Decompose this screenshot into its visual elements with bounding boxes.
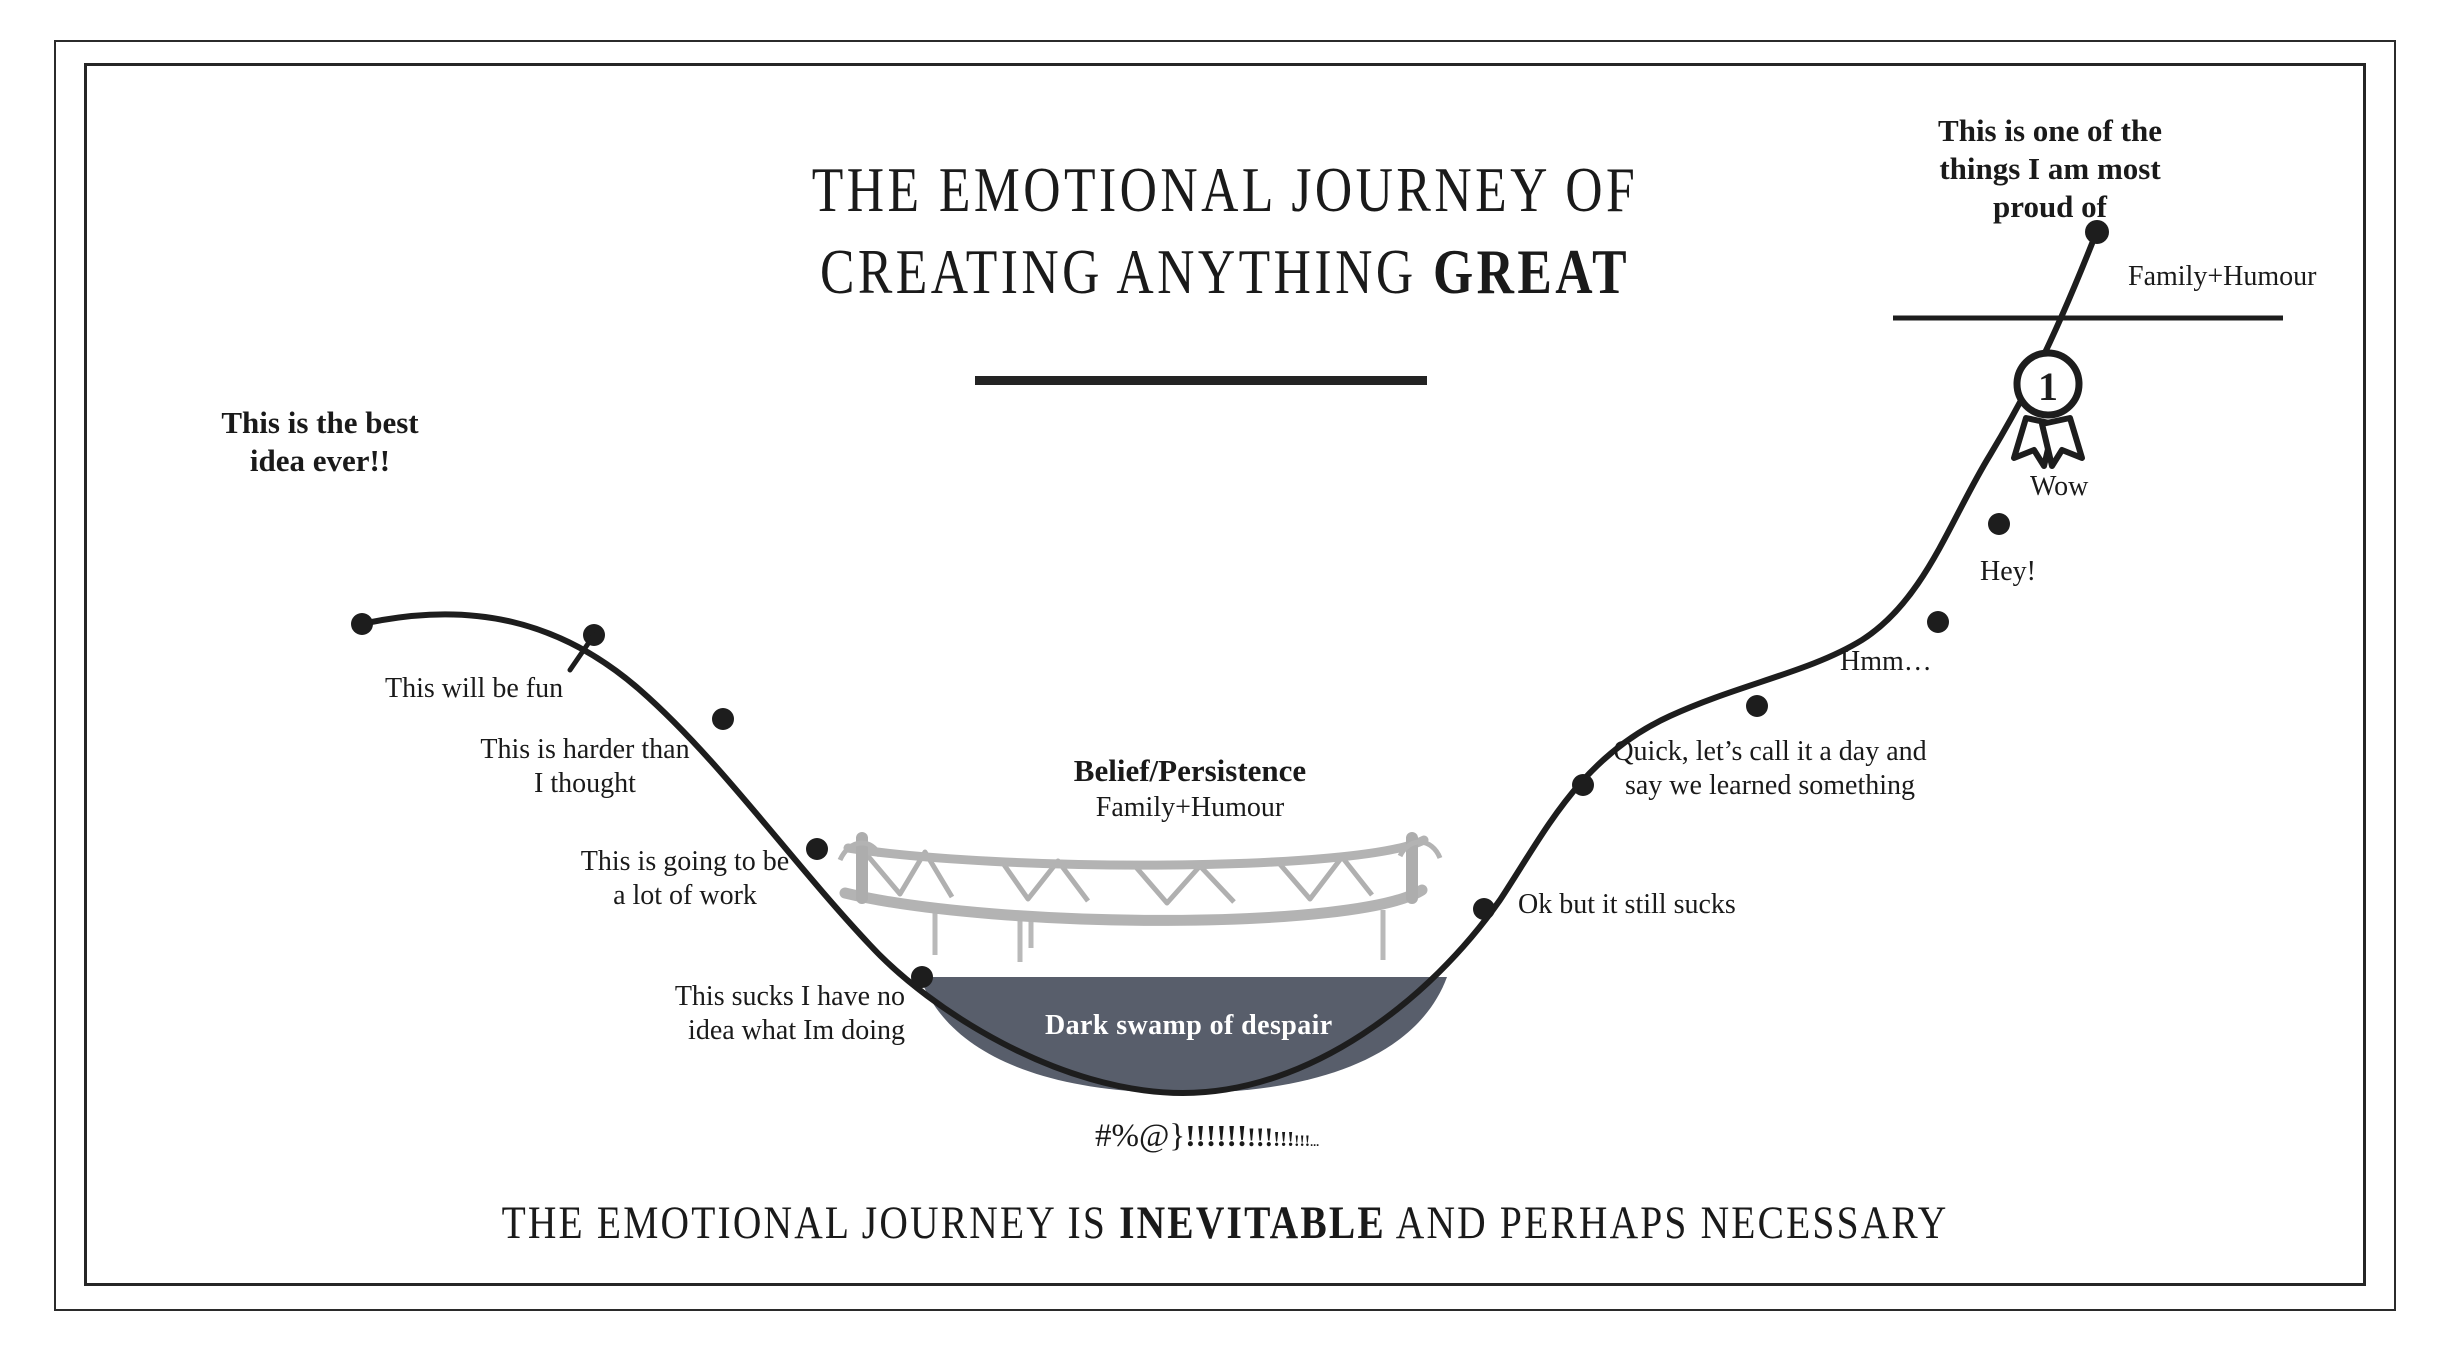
curse-bangs-4: !!! (1294, 1133, 1310, 1150)
footer-part-1: THE EMOTIONAL JOURNEY IS (502, 1197, 1120, 1249)
point-wow (1988, 513, 2010, 535)
annotation-hey: Hey! (1980, 555, 2180, 589)
curse-bangs-3: !!! (1273, 1127, 1294, 1151)
bridge-top-rail (848, 840, 1424, 865)
annotation-still-sucks: Ok but it still sucks (1518, 888, 1918, 922)
annotation-call-it-a-day: Quick, let’s call it a day and say we le… (1585, 735, 1955, 803)
point-hmm (1746, 695, 1768, 717)
footer-part-2: AND PERHAPS NECESSARY (1386, 1197, 1949, 1249)
point-still-sucks (1473, 898, 1495, 920)
curse-symbols: #%@} (1095, 1118, 1185, 1154)
curse-bangs-2: !!! (1247, 1123, 1273, 1152)
curse-bangs-1: !!!!!! (1185, 1118, 1247, 1153)
bridge-label-family-humour: Family+Humour (1020, 791, 1360, 825)
bridge-structure (840, 838, 1440, 962)
point-best-idea (351, 613, 373, 635)
dark-swamp-label: Dark swamp of despair (1045, 1010, 1333, 1042)
emotional-journey-curve (362, 236, 2095, 1093)
first-place-ribbon-icon: 1 (2014, 353, 2082, 466)
footer-emphasis: INEVITABLE (1119, 1197, 1386, 1249)
annotation-wow: Wow (2030, 470, 2230, 504)
bridge-deck (845, 890, 1422, 920)
bridge-label-belief-persistence: Belief/Persistence (1020, 752, 1360, 790)
annotation-this-sucks: This sucks I have no idea what Im doing (585, 980, 905, 1048)
point-this-sucks (911, 966, 933, 988)
point-hey (1927, 611, 1949, 633)
poster-canvas: THE EMOTIONAL JOURNEY OF CREATING ANYTHI… (0, 0, 2450, 1350)
annotation-will-be-fun: This will be fun (385, 672, 725, 706)
svg-text:1: 1 (2038, 364, 2058, 409)
frustration-curse-text: #%@}!!!!!!!!!!!!!!!... (1095, 1118, 1319, 1155)
curse-bangs-5: ... (1310, 1135, 1319, 1149)
annotation-harder-than-thought: This is harder than I thought (430, 733, 740, 801)
annotation-most-proud-of: This is one of the things I am most prou… (1860, 112, 2240, 225)
point-harder-than (712, 708, 734, 730)
annotation-family-humour-top: Family+Humour (2128, 260, 2450, 294)
annotation-lot-of-work: This is going to be a lot of work (520, 845, 850, 913)
footer-caption: THE EMOTIONAL JOURNEY IS INEVITABLE AND … (196, 1196, 2254, 1250)
annotation-hmm: Hmm… (1840, 645, 2100, 679)
annotation-best-idea: This is the best idea ever!! (150, 404, 490, 480)
